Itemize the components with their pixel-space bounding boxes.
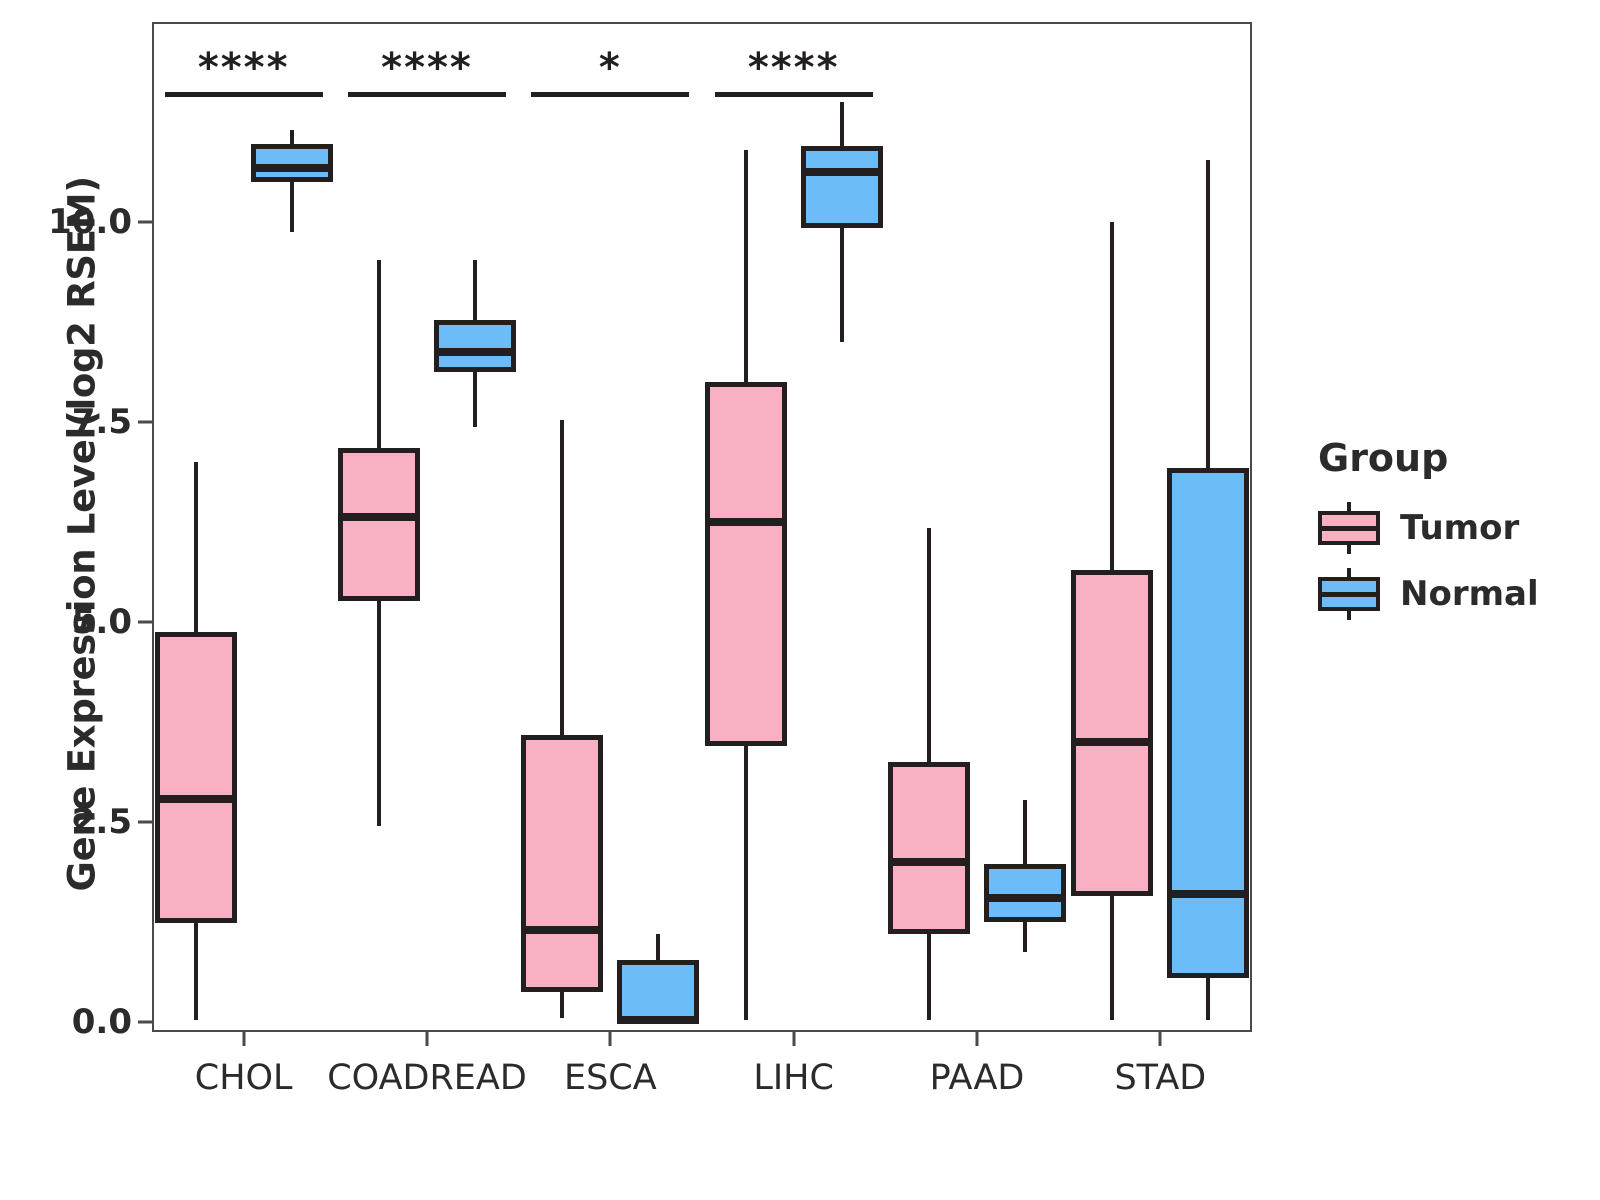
significance-label: ****: [198, 48, 290, 88]
x-tick-label-chol: CHOL: [195, 1058, 293, 1098]
significance-label: *: [599, 48, 622, 88]
box-lihc-tumor: [705, 382, 787, 746]
y-tick-label: 5.0: [72, 602, 132, 642]
x-tick-label-lihc: LIHC: [753, 1058, 834, 1098]
box-paad-tumor: [888, 762, 970, 934]
box-median: [338, 513, 420, 521]
box-median: [888, 858, 970, 866]
box-esca-normal: [617, 960, 699, 1022]
significance-bar: [348, 92, 506, 97]
box-median: [617, 1016, 699, 1024]
y-axis-title: Gene Expression Level(log2 RSEM): [61, 272, 104, 892]
y-tick-mark: [138, 821, 152, 824]
box-coadread-tumor: [338, 448, 420, 602]
y-tick-label: 2.5: [72, 802, 132, 842]
x-tick-mark: [609, 1032, 612, 1046]
legend-entries: TumorNormal: [1318, 502, 1578, 620]
box-chol-tumor: [155, 632, 237, 923]
box-median: [521, 926, 603, 934]
box-paad-normal: [984, 864, 1066, 922]
y-tick-label: 10.0: [48, 202, 132, 242]
box-median: [801, 168, 883, 176]
y-tick-mark: [138, 1021, 152, 1024]
box-esca-tumor: [521, 735, 603, 992]
legend-item-tumor[interactable]: Tumor: [1318, 502, 1578, 554]
x-tick-mark: [792, 1032, 795, 1046]
y-tick-label: 7.5: [72, 402, 132, 442]
box-median: [434, 348, 516, 356]
box-stad-normal: [1167, 468, 1249, 978]
box-median: [1071, 738, 1153, 746]
box-median: [155, 795, 237, 803]
legend-key-icon: [1318, 568, 1380, 620]
box-lihc-normal: [801, 146, 883, 228]
significance-label: ****: [381, 48, 473, 88]
x-tick-mark: [426, 1032, 429, 1046]
x-tick-mark: [242, 1032, 245, 1046]
legend-title: Group: [1318, 436, 1578, 480]
x-tick-label-esca: ESCA: [564, 1058, 657, 1098]
x-tick-label-coadread: COADREAD: [327, 1058, 527, 1098]
legend-label: Tumor: [1400, 508, 1519, 548]
legend-item-normal[interactable]: Normal: [1318, 568, 1578, 620]
x-tick-label-paad: PAAD: [930, 1058, 1025, 1098]
legend: Group TumorNormal: [1318, 436, 1578, 634]
y-tick-mark: [138, 621, 152, 624]
box-median: [984, 894, 1066, 902]
x-tick-label-stad: STAD: [1114, 1058, 1206, 1098]
significance-bar: [531, 92, 689, 97]
chart-root: Gene Expression Level(log2 RSEM) 0.02.55…: [0, 0, 1600, 1200]
legend-label: Normal: [1400, 574, 1539, 614]
box-median: [1167, 890, 1249, 898]
box-median: [705, 518, 787, 526]
y-tick-mark: [138, 221, 152, 224]
y-tick-label: 0.0: [72, 1002, 132, 1042]
x-tick-mark: [976, 1032, 979, 1046]
significance-label: ****: [748, 48, 840, 88]
box-coadread-normal: [434, 320, 516, 373]
significance-bar: [715, 92, 873, 97]
x-tick-mark: [1159, 1032, 1162, 1046]
y-tick-mark: [138, 421, 152, 424]
significance-bar: [165, 92, 323, 97]
legend-key-icon: [1318, 502, 1380, 554]
box-median: [251, 164, 333, 172]
box-stad-tumor: [1071, 570, 1153, 896]
